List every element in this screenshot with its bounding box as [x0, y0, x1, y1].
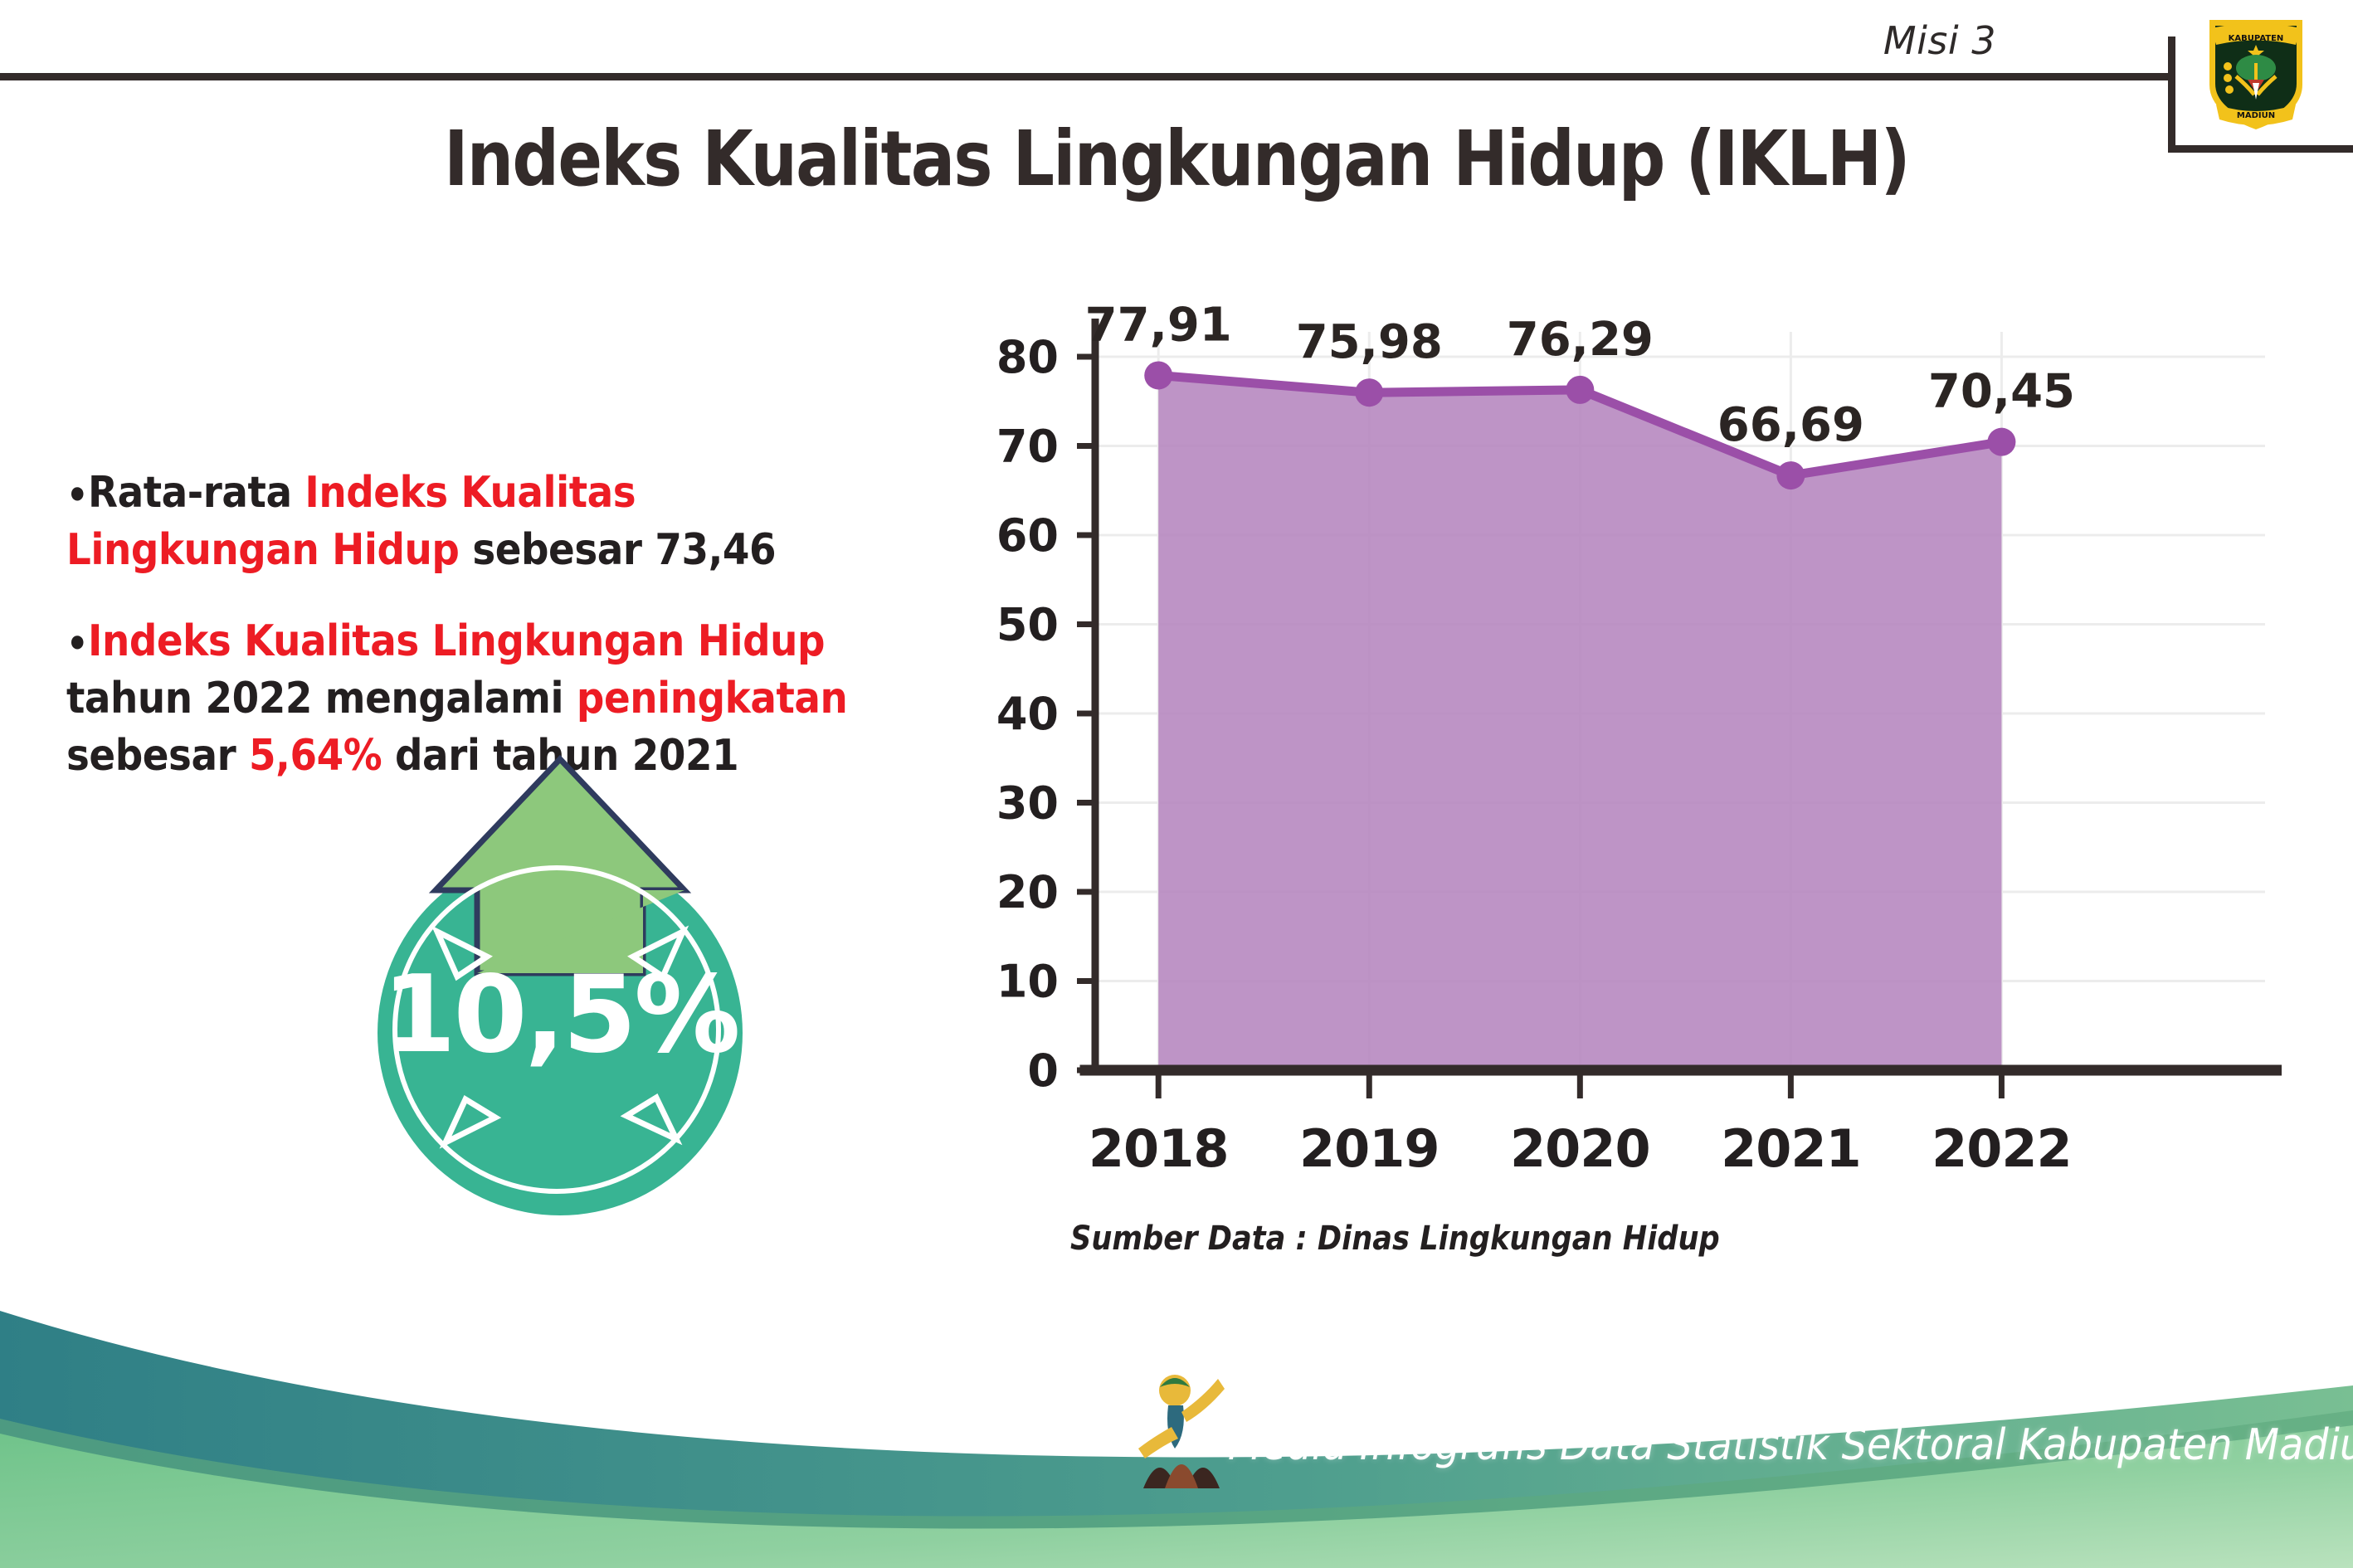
x-axis-label: 2022 — [1932, 1118, 2072, 1179]
data-point-label: 70,45 — [1928, 365, 2075, 419]
media-infografis-logo — [1135, 1367, 1235, 1492]
x-axis-label: 2020 — [1510, 1118, 1650, 1179]
header-divider — [0, 73, 2168, 80]
data-point-marker — [1776, 461, 1805, 489]
list-item: •Rata-rata Indeks Kualitas Lingkungan Hi… — [66, 465, 895, 578]
y-axis-label: 0 — [1027, 1045, 1059, 1097]
x-axis-label: 2019 — [1299, 1118, 1440, 1179]
bullet-text: Rata-rata — [88, 468, 304, 518]
infographic-slide: Misi 3 KABUPATEN MADIUN Indeks Kualitas … — [0, 0, 2353, 1568]
y-axis-label: 30 — [996, 777, 1059, 830]
bullet-highlight: peningkatan — [577, 674, 847, 723]
data-point-marker — [1355, 378, 1383, 407]
bullet-marker: • — [66, 473, 88, 518]
data-point-marker — [1144, 361, 1172, 389]
source-note: Sumber Data : Dinas Lingkungan Hidup — [1070, 1220, 1720, 1258]
badge-value: 10,5% — [378, 962, 743, 1069]
data-point-label: 77,91 — [1085, 298, 1232, 352]
data-point-label: 75,98 — [1296, 315, 1443, 369]
x-axis-label: 2018 — [1089, 1118, 1229, 1179]
data-point-label: 76,29 — [1507, 313, 1654, 367]
footer-text: Media Infografis Data Statistik Sektoral… — [1228, 1420, 2353, 1470]
bullet-text: tahun 2022 mengalami — [66, 674, 577, 723]
bullet-marker: • — [66, 621, 88, 666]
x-axis-label: 2021 — [1721, 1118, 1861, 1179]
growth-badge: 10,5% — [328, 751, 792, 1215]
data-point-marker — [1987, 428, 2015, 456]
svg-text:MADIUN: MADIUN — [2237, 111, 2275, 120]
y-axis-label: 50 — [996, 599, 1059, 651]
kabupaten-madiun-logo: KABUPATEN MADIUN — [2203, 8, 2309, 133]
mission-label: Misi 3 — [1883, 18, 1996, 63]
y-axis-label: 10 — [996, 956, 1059, 1008]
page-title: Indeks Kualitas Lingkungan Hidup (IKLH) — [165, 114, 2189, 203]
data-point-label: 66,69 — [1717, 398, 1864, 452]
y-axis-label: 80 — [996, 331, 1059, 383]
y-axis-label: 60 — [996, 509, 1059, 562]
y-axis-label: 70 — [996, 421, 1059, 473]
y-axis-label: 20 — [996, 866, 1059, 918]
area-fill — [1158, 375, 2001, 1070]
data-point-marker — [1566, 376, 1594, 404]
bullet-text: sebesar 73,46 — [459, 525, 776, 575]
bullet-highlight: Indeks Kualitas Lingkungan Hidup — [88, 616, 825, 666]
corner-bracket-horizontal — [2168, 145, 2353, 153]
svg-text:KABUPATEN: KABUPATEN — [2229, 34, 2284, 43]
bullet-text: sebesar — [66, 731, 249, 781]
y-axis-label: 40 — [996, 688, 1059, 740]
iklh-area-chart: 010203040506070802018201920202021202277,… — [954, 290, 2282, 1203]
